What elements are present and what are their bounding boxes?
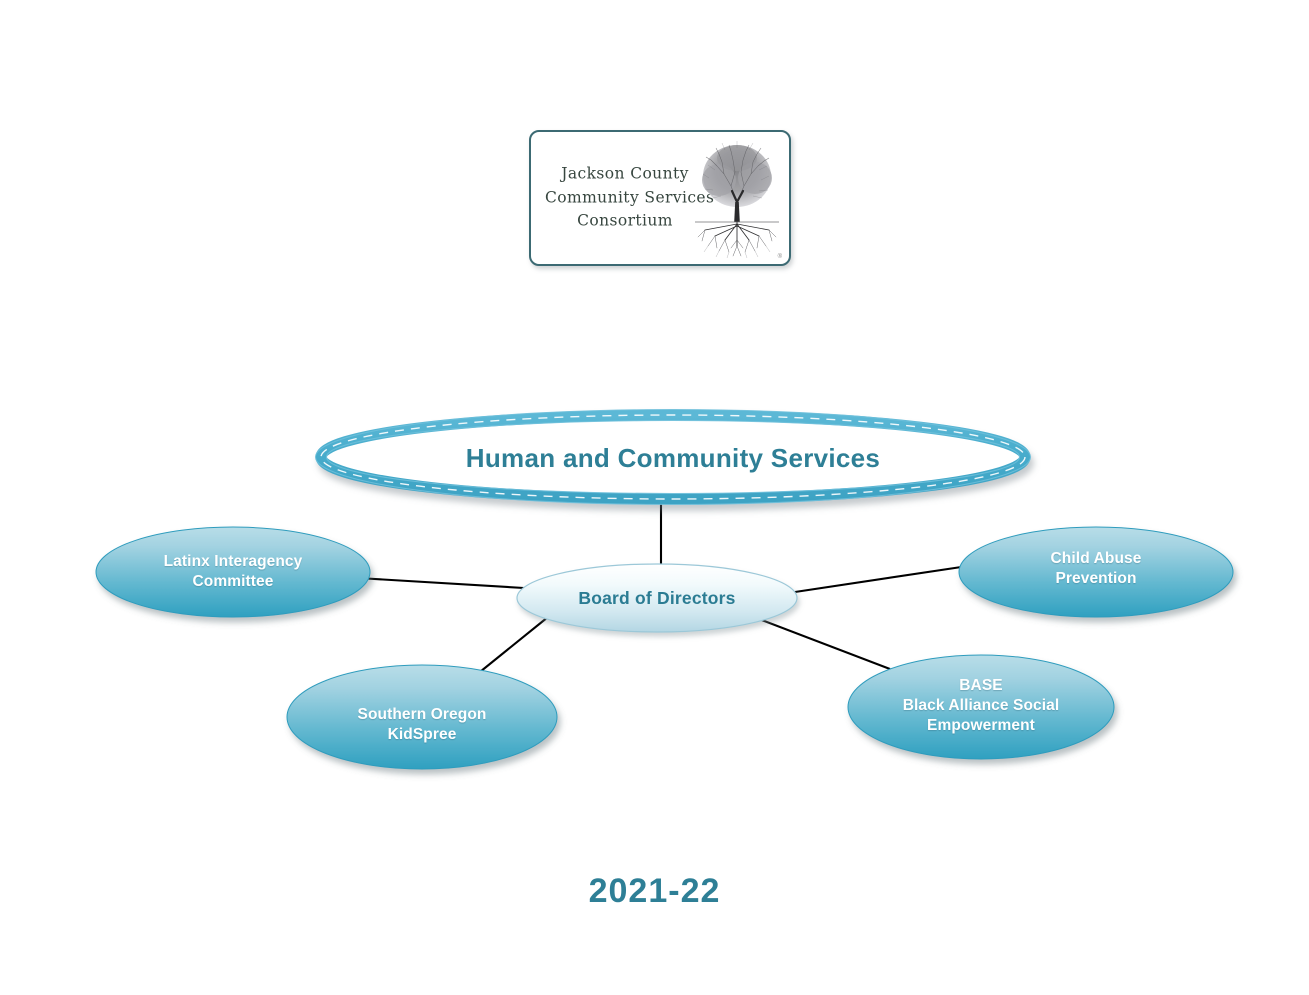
satellite-nodes [96, 527, 1233, 769]
node-child-abuse-prevention[interactable] [959, 527, 1233, 617]
node-base-black-alliance-social-empowerment[interactable] [848, 655, 1114, 759]
node-latinx-interagency-committee[interactable] [96, 527, 370, 617]
hub-ellipse[interactable] [517, 564, 797, 632]
connector-hub-to-latinx [358, 578, 524, 588]
node-southern-oregon-kidspree[interactable] [287, 665, 557, 769]
crown-ellipse[interactable] [316, 410, 1031, 505]
hub-and-spoke-diagram [0, 0, 1309, 995]
year-label: 2021-22 [0, 872, 1309, 911]
connector-hub-to-base [759, 619, 890, 669]
org-chart-canvas: Jackson County Community Services Consor… [0, 0, 1309, 995]
connector-hub-to-child-abuse [795, 566, 968, 592]
